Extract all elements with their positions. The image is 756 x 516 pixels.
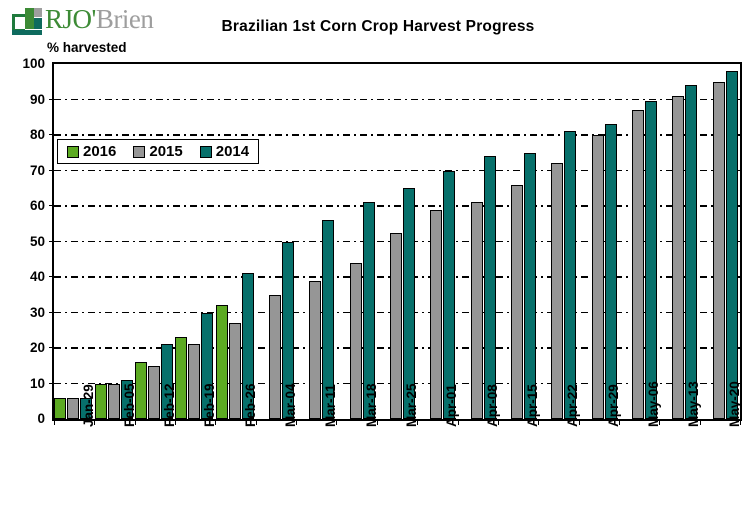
legend-label-2016: 2016 <box>83 144 116 159</box>
bar-2016-Jan-29 <box>54 398 66 419</box>
y-axis-tick <box>49 383 54 384</box>
bar-2015-May-06 <box>632 110 644 419</box>
y-axis-label: 50 <box>5 234 45 249</box>
bar-2014-Apr-01 <box>443 171 455 420</box>
bar-2015-May-13 <box>672 96 684 419</box>
chart-legend: 2016 2015 2014 <box>57 139 259 164</box>
y-axis-label: 0 <box>5 411 45 426</box>
y-axis-label: 70 <box>5 163 45 178</box>
bar-2015-Apr-08 <box>471 202 483 419</box>
x-axis-label-Jan-29: Jan-29 <box>81 384 96 427</box>
bar-2015-Mar-18 <box>350 263 362 419</box>
gridline <box>54 99 740 101</box>
bar-2015-Apr-22 <box>551 163 563 419</box>
x-axis-label-Mar-18: Mar-18 <box>364 383 379 427</box>
y-axis-tick <box>49 170 54 171</box>
x-axis-label-Feb-12: Feb-12 <box>162 383 177 427</box>
bar-2015-Apr-15 <box>511 185 523 419</box>
legend-label-2015: 2015 <box>149 144 182 159</box>
legend-item-2014: 2014 <box>200 144 249 159</box>
bar-2014-May-13 <box>685 85 697 419</box>
x-axis-tick <box>54 419 55 425</box>
y-axis-label: 90 <box>5 92 45 107</box>
y-axis-label: 40 <box>5 269 45 284</box>
y-axis-label: 30 <box>5 305 45 320</box>
y-axis-tick <box>49 347 54 348</box>
y-axis-tick <box>49 99 54 100</box>
bar-2014-Apr-08 <box>484 156 496 419</box>
x-axis-label-Feb-19: Feb-19 <box>202 383 217 427</box>
bar-2016-Feb-26 <box>216 305 228 419</box>
y-axis-tick <box>49 312 54 313</box>
x-axis-label-May-06: May-06 <box>646 381 661 427</box>
legend-swatch-2015 <box>133 146 145 158</box>
chart-page: RJO'Brien Brazilian 1st Corn Crop Harves… <box>0 0 756 516</box>
bar-2016-Feb-19 <box>175 337 187 419</box>
x-axis-label-Apr-22: Apr-22 <box>565 384 580 427</box>
bar-2015-Mar-11 <box>309 281 321 419</box>
legend-item-2015: 2015 <box>133 144 182 159</box>
x-axis-label-Mar-04: Mar-04 <box>283 383 298 427</box>
bar-2015-Feb-26 <box>229 323 241 419</box>
plot-area <box>52 62 742 421</box>
legend-swatch-2014 <box>200 146 212 158</box>
bar-2015-Mar-04 <box>269 295 281 419</box>
x-axis-label-Mar-25: Mar-25 <box>404 383 419 427</box>
bar-2016-Feb-05 <box>95 384 107 420</box>
page-title: Brazilian 1st Corn Crop Harvest Progress <box>0 18 756 36</box>
bar-2015-Feb-12 <box>148 366 160 419</box>
bar-2014-May-06 <box>645 101 657 419</box>
bar-2015-Feb-19 <box>188 344 200 419</box>
y-axis-label: 20 <box>5 340 45 355</box>
y-axis-tick <box>49 276 54 277</box>
x-axis-label-Feb-26: Feb-26 <box>243 383 258 427</box>
bar-2015-Mar-25 <box>390 233 402 419</box>
bar-2015-Feb-05 <box>108 384 120 420</box>
y-axis-tick <box>49 134 54 135</box>
legend-item-2016: 2016 <box>67 144 116 159</box>
x-axis-label-Feb-05: Feb-05 <box>122 383 137 427</box>
y-axis-label: 100 <box>5 56 45 71</box>
y-axis-tick <box>49 205 54 206</box>
bar-2015-Apr-29 <box>592 135 604 419</box>
bar-2015-Jan-29 <box>67 398 79 419</box>
plot-inner <box>54 64 740 419</box>
x-axis-label-Apr-29: Apr-29 <box>606 384 621 427</box>
bar-2015-Apr-01 <box>430 210 442 419</box>
x-axis-label-Apr-15: Apr-15 <box>525 384 540 427</box>
legend-swatch-2016 <box>67 146 79 158</box>
x-axis-label-Apr-08: Apr-08 <box>485 384 500 427</box>
x-axis-label-May-13: May-13 <box>686 381 701 427</box>
y-axis-title: % harvested <box>47 40 127 55</box>
y-axis-label: 10 <box>5 376 45 391</box>
x-axis-label-Mar-11: Mar-11 <box>323 384 338 427</box>
x-axis-label-May-20: May-20 <box>727 381 742 427</box>
legend-label-2014: 2014 <box>216 144 249 159</box>
y-axis-label: 60 <box>5 198 45 213</box>
y-axis-label: 80 <box>5 127 45 142</box>
y-axis-tick <box>49 241 54 242</box>
bar-2014-May-20 <box>726 71 738 419</box>
bar-2014-Apr-22 <box>564 131 576 419</box>
bar-2014-Apr-15 <box>524 153 536 419</box>
bar-2015-May-20 <box>713 82 725 419</box>
x-axis-label-Apr-01: Apr-01 <box>444 384 459 427</box>
bar-2014-Apr-29 <box>605 124 617 419</box>
